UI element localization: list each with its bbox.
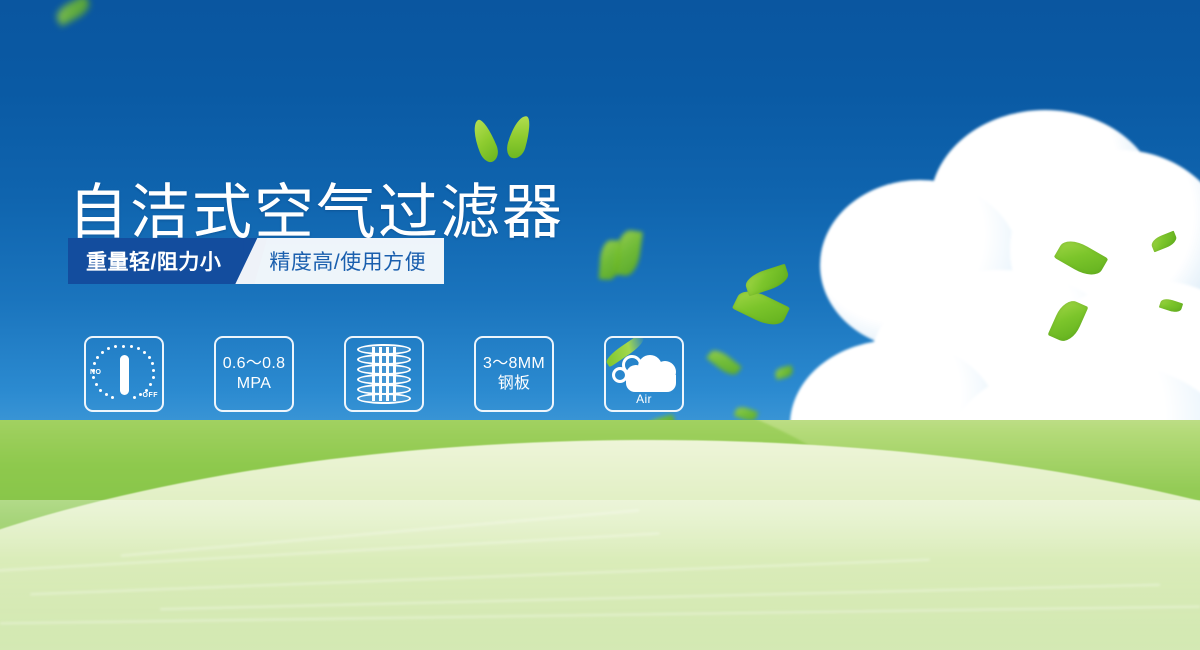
leaf-sprout-icon: [470, 113, 544, 165]
feature-box-controller: NO OFF: [84, 336, 164, 412]
air-label: Air: [609, 392, 679, 406]
gauge-label-off: OFF: [143, 392, 159, 399]
feature-box-filtration: 0.6～0.8 MPA: [214, 336, 294, 412]
pressure-unit: MPA: [223, 374, 286, 394]
subtitle-left-panel: 重量轻/阻力小: [68, 238, 255, 284]
pressure-value: 0.6～0.8: [223, 354, 286, 374]
subtitle-bar: 重量轻/阻力小 精度高/使用方便: [68, 238, 444, 284]
grass-sheen: [0, 500, 1200, 650]
promo-banner: 自洁式空气过滤器 重量轻/阻力小 精度高/使用方便: [0, 0, 1200, 650]
steel-material: 钢板: [483, 374, 545, 394]
gauge-dial-icon: NO OFF: [91, 343, 157, 405]
feature-box-backblow: [344, 336, 424, 412]
filter-cartridge-icon: [357, 344, 411, 404]
subtitle-right-panel: 精度高/使用方便: [235, 238, 444, 284]
steel-plate-text-icon: 3～8MM 钢板: [483, 354, 545, 395]
gauge-needle: [120, 355, 129, 395]
pressure-text-icon: 0.6～0.8 MPA: [223, 354, 286, 395]
feature-box-dust: Air: [604, 336, 684, 412]
page-title: 自洁式空气过滤器: [68, 183, 564, 243]
gauge-label-on: NO: [90, 369, 102, 376]
feature-box-steel: 3～8MM 钢板: [474, 336, 554, 412]
air-cloud-icon: Air: [609, 343, 679, 405]
steel-thickness: 3～8MM: [483, 354, 545, 374]
grass-foreground: [0, 420, 1200, 650]
